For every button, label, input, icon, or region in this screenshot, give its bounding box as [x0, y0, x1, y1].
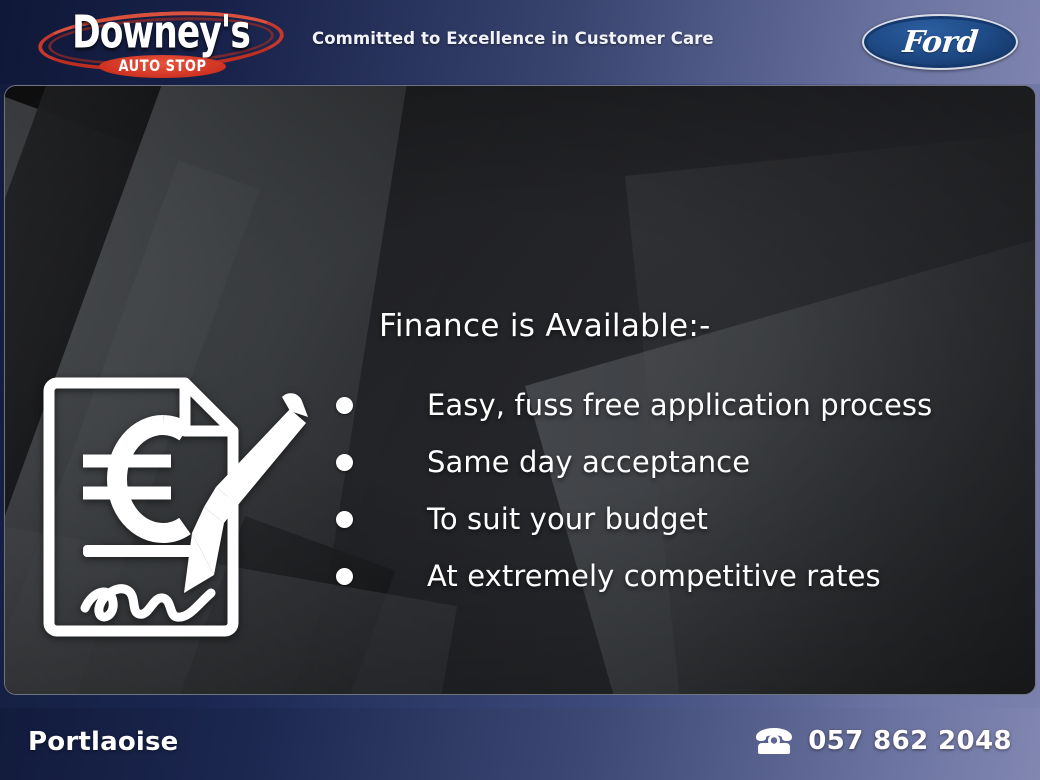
list-item-label: Easy, fuss free application process [427, 388, 932, 422]
list-item: To suit your budget [379, 498, 932, 540]
phone-number-label: 057 862 2048 [808, 726, 1012, 756]
page-title: Finance is Available:- [379, 308, 932, 344]
list-item: Easy, fuss free application process [379, 384, 932, 426]
ford-wordmark: Ford [901, 25, 979, 60]
ford-oval-logo[interactable]: Ford [862, 14, 1018, 70]
list-item-label: To suit your budget [427, 502, 708, 536]
finance-content: Finance is Available:- Easy, fuss free a… [379, 308, 932, 612]
logo-brand-name: Downey's [45, 6, 278, 58]
list-item: At extremely competitive rates [379, 555, 932, 597]
euro-document-signature-icon [43, 369, 309, 654]
main-panel: Finance is Available:- Easy, fuss free a… [4, 85, 1036, 695]
telephone-icon [754, 726, 794, 756]
logo-sub-label: AUTO STOP [119, 57, 207, 76]
list-item-label: At extremely competitive rates [427, 559, 881, 593]
bullet-dot-icon [336, 511, 353, 528]
benefits-list: Easy, fuss free application process Same… [379, 384, 932, 597]
header-tagline: Committed to Excellence in Customer Care [312, 29, 714, 48]
contact-phone[interactable]: 057 862 2048 [754, 726, 1012, 756]
bullet-dot-icon [336, 454, 353, 471]
list-item-label: Same day acceptance [427, 445, 750, 479]
bullet-dot-icon [336, 568, 353, 585]
downeys-logo[interactable]: Downey's AUTO STOP [36, 4, 286, 82]
header-bar: Downey's AUTO STOP Committed to Excellen… [0, 0, 1040, 84]
list-item: Same day acceptance [379, 441, 932, 483]
logo-sub-badge: AUTO STOP [99, 55, 226, 78]
footer-bar: Portlaoise 057 862 2048 [0, 708, 1040, 780]
bullet-dot-icon [336, 397, 353, 414]
location-label: Portlaoise [28, 727, 179, 757]
advert-canvas: Downey's AUTO STOP Committed to Excellen… [0, 0, 1040, 780]
